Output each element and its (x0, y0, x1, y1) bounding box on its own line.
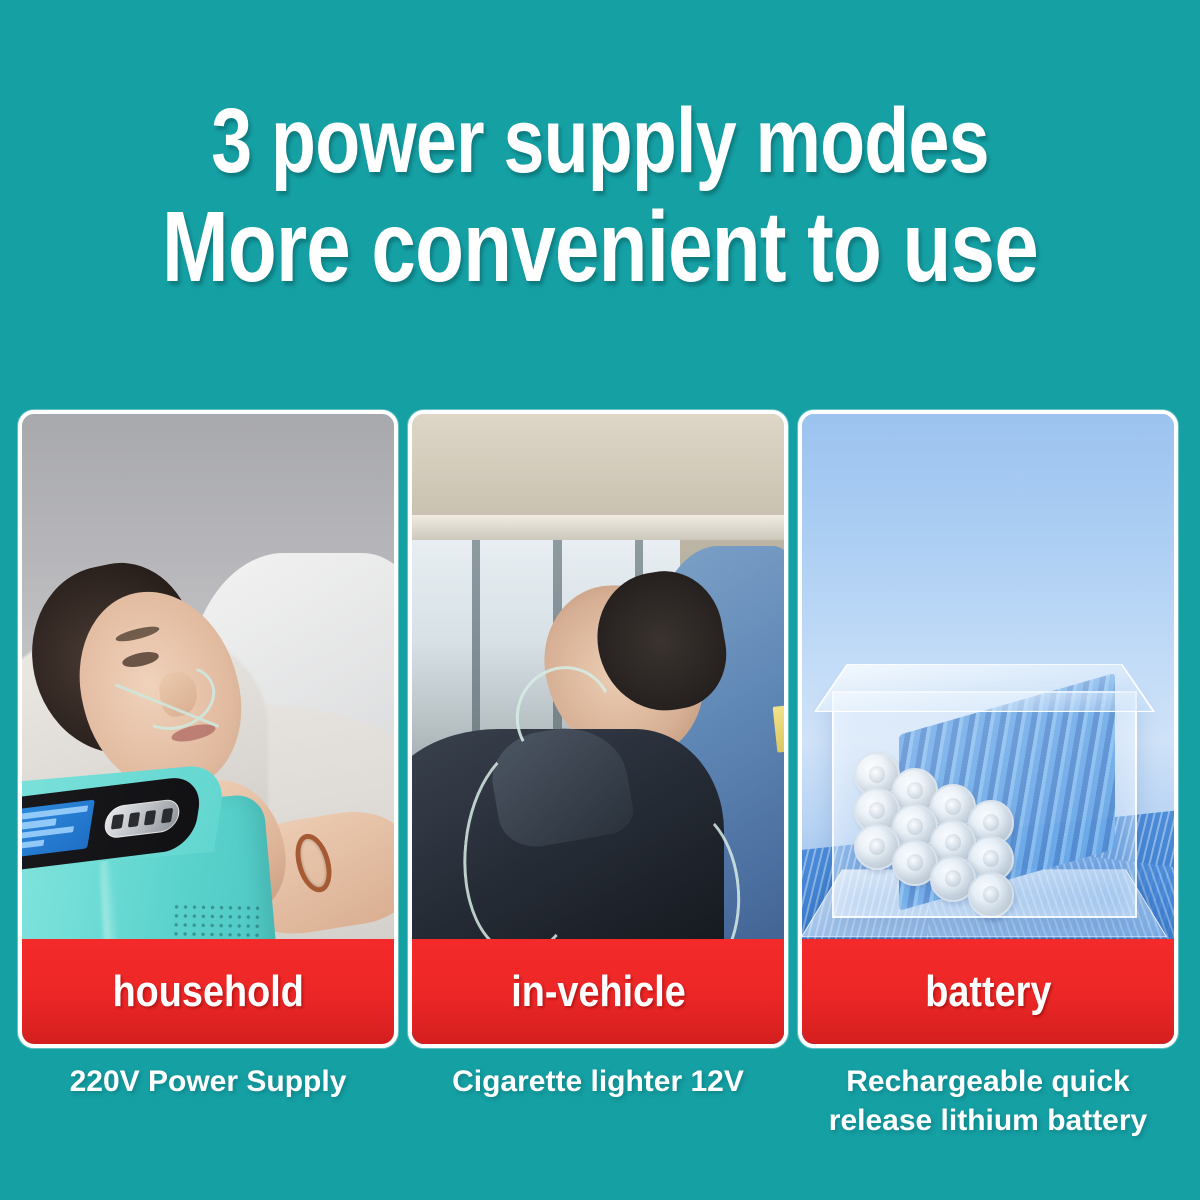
caption-line: release lithium battery (798, 1101, 1178, 1140)
device-button-cluster[interactable] (102, 798, 182, 840)
label-band-in-vehicle: in-vehicle (412, 939, 784, 1044)
caption-battery: Rechargeable quick release lithium batte… (798, 1062, 1178, 1140)
label-band-battery: battery (802, 939, 1174, 1044)
card-label-in-vehicle: in-vehicle (511, 967, 686, 1017)
label-band-household: household (22, 939, 394, 1044)
glass-enclosure (832, 691, 1137, 918)
vehicle-ceiling (412, 414, 784, 521)
caption-row: 220V Power Supply Cigarette lighter 12V … (18, 1062, 1178, 1140)
headline-line-1: 3 power supply modes (120, 96, 1080, 186)
seat-label-tag (773, 706, 784, 754)
caption-line: Rechargeable quick (798, 1062, 1178, 1101)
caption-household: 220V Power Supply (18, 1062, 398, 1140)
device-lcd-screen (22, 800, 95, 862)
caption-line: Cigarette lighter 12V (408, 1062, 788, 1101)
feature-card-row: household in-vehicle (18, 410, 1178, 1048)
card-label-household: household (112, 967, 303, 1017)
feature-card-in-vehicle[interactable]: in-vehicle (408, 410, 788, 1048)
card-label-battery: battery (925, 967, 1051, 1017)
caption-line: 220V Power Supply (18, 1062, 398, 1101)
vehicle-rail (412, 515, 784, 540)
caption-in-vehicle: Cigarette lighter 12V (408, 1062, 788, 1140)
feature-card-household[interactable]: household (18, 410, 398, 1048)
feature-card-battery[interactable]: battery (798, 410, 1178, 1048)
headline-block: 3 power supply modes More convenient to … (0, 96, 1200, 296)
headline-line-2: More convenient to use (120, 198, 1080, 296)
